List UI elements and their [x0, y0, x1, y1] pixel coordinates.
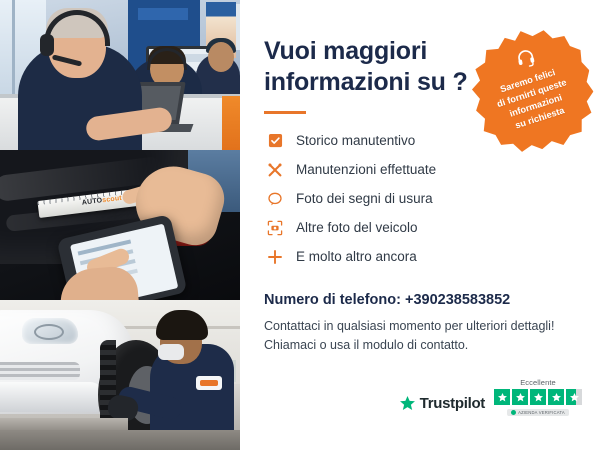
car-headlight — [22, 318, 78, 344]
list-item-label: E molto altro ancora — [296, 249, 417, 264]
page-title: Vuoi maggiori informazioni su ? — [264, 36, 474, 97]
photo-scan-icon — [264, 217, 286, 239]
photo-column: AUTOscout — [0, 0, 240, 450]
trustpilot-wordmark: Trustpilot — [420, 395, 485, 412]
car-bumper — [0, 382, 104, 412]
speech-bubble-icon — [264, 188, 286, 210]
rating-label: Eccellente — [520, 378, 556, 387]
list-item: E molto altro ancora — [264, 242, 578, 271]
star-icon-partial — [566, 389, 582, 405]
contact-text: Contattaci in qualsiasi momento per ulte… — [264, 317, 578, 356]
plus-icon — [264, 246, 286, 268]
trustpilot-rating: Eccellente — [494, 378, 582, 416]
contact-line-1: Contattaci in qualsiasi momento per ulte… — [264, 317, 578, 336]
list-item-label: Manutenzioni effettuate — [296, 162, 436, 177]
ruler-logo: AUTOscout — [82, 195, 123, 207]
contact-line-2: Chiamaci o usa il modulo di contatto. — [264, 336, 578, 355]
mechanic-wheel-inspection-photo — [0, 300, 240, 450]
phone-number-line: Numero di telefono: +390238583852 — [264, 292, 578, 308]
orange-equipment-edge — [222, 96, 240, 150]
agent-1-headset-earcup — [40, 34, 54, 56]
list-item: Altre foto del veicolo — [264, 213, 578, 242]
verified-label: AZIENDA VERIFICATA — [518, 410, 565, 415]
list-item-label: Altre foto del veicolo — [296, 220, 418, 235]
crossed-tools-icon — [264, 159, 286, 181]
call-center-agents-photo — [0, 0, 240, 150]
trustpilot-widget[interactable]: Trustpilot Eccellente — [399, 378, 582, 416]
list-item: Manutenzioni effettuate — [264, 155, 578, 184]
accent-divider — [264, 111, 306, 114]
garage-floor — [0, 430, 240, 450]
paint-thickness-measurement-photo: AUTOscout — [0, 150, 240, 300]
checkbox-checked-icon — [264, 130, 286, 152]
verified-check-icon — [511, 410, 516, 415]
verified-badge: AZIENDA VERIFICATA — [507, 409, 569, 416]
star-icon — [512, 389, 528, 405]
mechanic-face-mask — [158, 344, 184, 360]
star-icon — [548, 389, 564, 405]
star-rating — [494, 389, 582, 405]
phone-label: Numero di telefono: — [264, 292, 401, 308]
trustpilot-brand: Trustpilot — [399, 395, 485, 416]
star-icon — [494, 389, 510, 405]
uniform-logo-patch — [196, 376, 222, 390]
list-item-label: Foto dei segni di usura — [296, 191, 433, 206]
advertisement-banner: AUTOscout — [0, 0, 600, 450]
car-grille — [0, 362, 80, 380]
list-item-label: Storico manutentivo — [296, 133, 415, 148]
callout-badge: Saremo felici di fornirti queste informa… — [462, 20, 600, 161]
trustpilot-star-icon — [399, 395, 416, 412]
phone-number[interactable]: +390238583852 — [405, 292, 510, 308]
star-icon — [530, 389, 546, 405]
agent-3-head — [208, 42, 234, 72]
content-panel: Vuoi maggiori informazioni su ? Storico … — [240, 0, 600, 450]
list-item: Foto dei segni di usura — [264, 184, 578, 213]
